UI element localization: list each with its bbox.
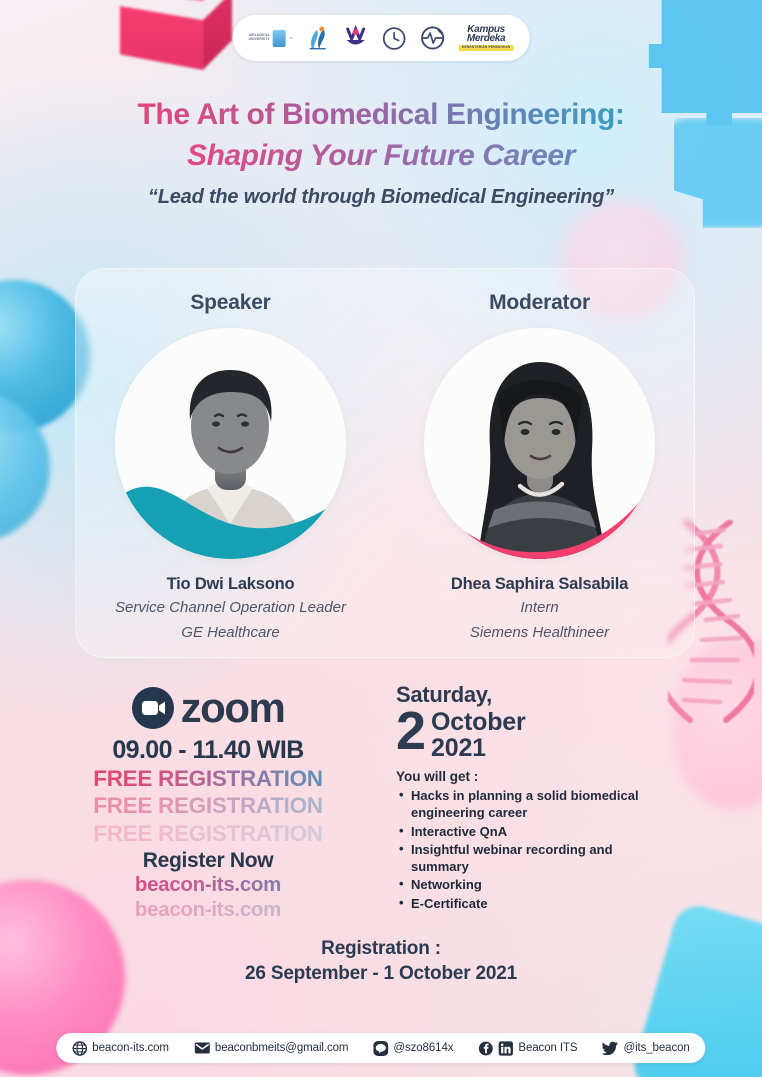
envelope-icon — [194, 1042, 210, 1054]
moderator-name: Dhea Saphira Salsabila — [451, 575, 628, 594]
list-item: Hacks in planning a solid biomedical eng… — [396, 787, 646, 822]
line-icon — [373, 1041, 388, 1056]
linkedin-icon — [498, 1041, 513, 1056]
contact-social-text: Beacon ITS — [518, 1042, 577, 1054]
globe-icon — [72, 1041, 87, 1056]
contact-twitter-text: @its_beacon — [623, 1042, 689, 1054]
event-time: 09.00 - 11.40 WIB — [28, 736, 388, 765]
blue-sphere-left-secondary-decor — [0, 392, 50, 542]
contact-email[interactable]: beaconbmeits@gmail.com — [194, 1042, 348, 1054]
event-month: October — [431, 710, 525, 736]
zoom-logo: zoom — [28, 684, 388, 732]
moderator-photo — [424, 328, 655, 559]
contact-twitter[interactable]: @its_beacon — [602, 1041, 689, 1055]
list-item: E-Certificate — [396, 895, 646, 912]
platform-details: zoom 09.00 - 11.40 WIB FREE REGISTRATION… — [28, 684, 388, 923]
title-tagline: “Lead the world through Biomedical Engin… — [0, 186, 762, 209]
list-item: Interactive QnA — [396, 823, 646, 840]
zoom-wordmark: zoom — [181, 684, 285, 732]
contact-website[interactable]: beacon-its.com — [72, 1041, 169, 1056]
speaker-company: GE Healthcare — [181, 623, 279, 644]
registration-website-echo: beacon-its.com — [28, 898, 388, 923]
speaker-position: Service Channel Operation Leader — [115, 598, 346, 619]
title-line-1: The Art of Biomedical Engineering: — [0, 98, 762, 132]
moderator-company: Siemens Healthineer — [470, 623, 609, 644]
moderator-card: Moderator — [385, 269, 694, 657]
pink-cube-decor — [120, 0, 232, 70]
register-now-label: Register Now — [28, 849, 388, 873]
contact-social[interactable]: Beacon ITS — [478, 1041, 577, 1056]
poster-title-block: The Art of Biomedical Engineering: Shapi… — [0, 98, 762, 209]
contact-bar: beacon-its.com beaconbmeits@gmail.com @s… — [56, 1033, 705, 1063]
event-day-name: Saturday, — [396, 684, 646, 706]
twitter-icon — [602, 1041, 618, 1055]
speakers-panel: Speaker — [75, 268, 695, 658]
zoom-camera-icon — [132, 687, 174, 729]
beacon-logo — [420, 25, 446, 51]
free-registration-label-1: FREE REGISTRATION — [28, 765, 388, 792]
registration-period-block: Registration : 26 September - 1 October … — [0, 938, 762, 985]
moderator-position: Intern — [520, 598, 558, 619]
its-logo — [306, 24, 330, 52]
facebook-icon — [478, 1041, 493, 1056]
event-year: 2021 — [431, 736, 525, 762]
speaker-name: Tio Dwi Laksono — [167, 575, 295, 594]
moderator-role-label: Moderator — [489, 291, 590, 315]
event-day-number: 2 — [396, 708, 424, 754]
contact-line-text: @szo8614x — [393, 1042, 453, 1054]
partner-logo-bar: AIRLANGGA UNIVERSITY ITS Kampus — [233, 15, 530, 61]
contact-email-text: beaconbmeits@gmail.com — [215, 1042, 348, 1054]
kampus-merdeka-logo: Kampus Merdeka KEMENTERIAN PENDIDIKAN — [459, 25, 514, 50]
event-details-section: zoom 09.00 - 11.40 WIB FREE REGISTRATION… — [0, 684, 762, 944]
list-item: Networking — [396, 876, 646, 893]
list-item: Insightful webinar recording and summary — [396, 841, 646, 876]
free-registration-label-2: FREE REGISTRATION — [28, 792, 388, 819]
clock-logo — [382, 26, 407, 51]
speaker-photo — [115, 328, 346, 559]
speaker-card: Speaker — [76, 269, 385, 657]
benefits-heading: You will get : — [396, 769, 646, 784]
contact-line[interactable]: @szo8614x — [373, 1041, 453, 1056]
poster-canvas: AIRLANGGA UNIVERSITY ITS Kampus — [0, 0, 762, 1077]
universitas-airlangga-logo: AIRLANGGA UNIVERSITY ITS — [249, 30, 293, 47]
free-registration-label-3: FREE REGISTRATION — [28, 820, 388, 847]
event-date-row: 2 October 2021 — [396, 708, 646, 761]
registration-heading: Registration : — [0, 938, 762, 960]
registration-website-link[interactable]: beacon-its.com — [28, 873, 388, 898]
date-and-benefits: Saturday, 2 October 2021 You will get : … — [396, 684, 646, 913]
registration-period: 26 September - 1 October 2021 — [0, 963, 762, 985]
bme-its-logo — [343, 25, 369, 51]
speaker-role-label: Speaker — [190, 291, 270, 315]
title-line-2: Shaping Your Future Career — [0, 139, 762, 173]
benefits-list: Hacks in planning a solid biomedical eng… — [396, 787, 646, 912]
contact-website-text: beacon-its.com — [92, 1042, 169, 1054]
